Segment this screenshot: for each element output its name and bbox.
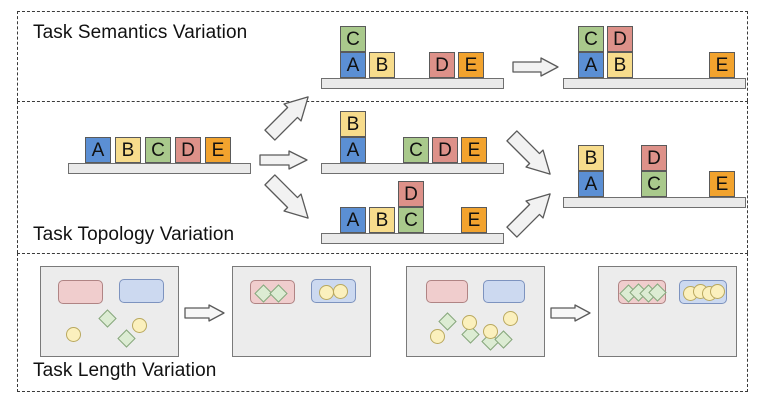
block-C: C	[398, 207, 424, 233]
block-C: C	[578, 26, 604, 52]
diamond-object	[98, 309, 116, 327]
figure-root: Task Semantics Variation C A B D E C A D…	[0, 0, 776, 410]
table-topology-variant-1	[321, 163, 504, 174]
arrow-branch-right	[259, 150, 309, 170]
block-B: B	[115, 137, 141, 163]
block-C: C	[145, 137, 171, 163]
bin-red	[58, 280, 103, 304]
arrow-length-long-transform	[550, 304, 592, 322]
block-E: E	[461, 207, 487, 233]
block-D: D	[429, 52, 455, 78]
circle-object	[66, 327, 81, 342]
arrow-length-short-transform	[184, 304, 226, 322]
block-B: B	[607, 52, 633, 78]
bin-blue	[311, 279, 356, 303]
arrow-branch-down-right	[258, 168, 320, 230]
block-D: D	[641, 145, 667, 171]
circle-object	[333, 284, 348, 299]
block-A: A	[340, 52, 366, 78]
circle-object	[503, 311, 518, 326]
table-topology-goal	[563, 197, 746, 208]
block-D: D	[398, 181, 424, 207]
scene-length-long-initial	[406, 266, 545, 357]
block-E: E	[709, 52, 735, 78]
scene-length-short-initial	[40, 266, 179, 357]
diamond-object	[117, 329, 135, 347]
table-semantics-initial	[321, 78, 504, 89]
bin-blue	[119, 279, 164, 303]
diamond-object	[438, 312, 456, 330]
bin-blue	[483, 280, 525, 303]
table-topology-variant-2	[321, 233, 504, 244]
circle-object	[132, 318, 147, 333]
block-D: D	[607, 26, 633, 52]
block-E: E	[205, 137, 231, 163]
block-E: E	[458, 52, 484, 78]
block-A: A	[85, 137, 111, 163]
bin-red	[426, 280, 468, 303]
block-A: A	[340, 137, 366, 163]
block-D: D	[175, 137, 201, 163]
panel-label-length: Task Length Variation	[33, 360, 216, 382]
block-B: B	[369, 207, 395, 233]
circle-object	[483, 324, 498, 339]
block-D: D	[432, 137, 458, 163]
table-source	[68, 163, 251, 174]
bin-blue	[679, 280, 727, 304]
scene-length-short-goal	[232, 266, 371, 357]
block-B: B	[340, 111, 366, 137]
circle-object	[462, 315, 477, 330]
table-semantics-goal	[563, 78, 746, 89]
circle-object	[710, 284, 725, 299]
block-C: C	[403, 137, 429, 163]
arrow-semantics-transform	[512, 57, 560, 77]
arrow-merge-down-right	[500, 124, 562, 186]
block-A: A	[340, 207, 366, 233]
scene-length-long-goal	[598, 266, 737, 357]
block-C: C	[641, 171, 667, 197]
circle-object	[430, 329, 445, 344]
circle-object	[319, 285, 334, 300]
panel-label-topology: Task Topology Variation	[33, 224, 234, 246]
diamond-object	[269, 284, 287, 302]
block-E: E	[461, 137, 487, 163]
block-B: B	[578, 145, 604, 171]
arrow-branch-up-right	[258, 85, 320, 147]
bin-red	[250, 280, 295, 304]
block-A: A	[578, 52, 604, 78]
block-E: E	[709, 171, 735, 197]
panel-label-semantics: Task Semantics Variation	[33, 22, 247, 44]
block-A: A	[578, 171, 604, 197]
bin-red	[618, 280, 666, 304]
block-C: C	[340, 26, 366, 52]
block-B: B	[369, 52, 395, 78]
arrow-merge-up-right	[500, 182, 562, 244]
